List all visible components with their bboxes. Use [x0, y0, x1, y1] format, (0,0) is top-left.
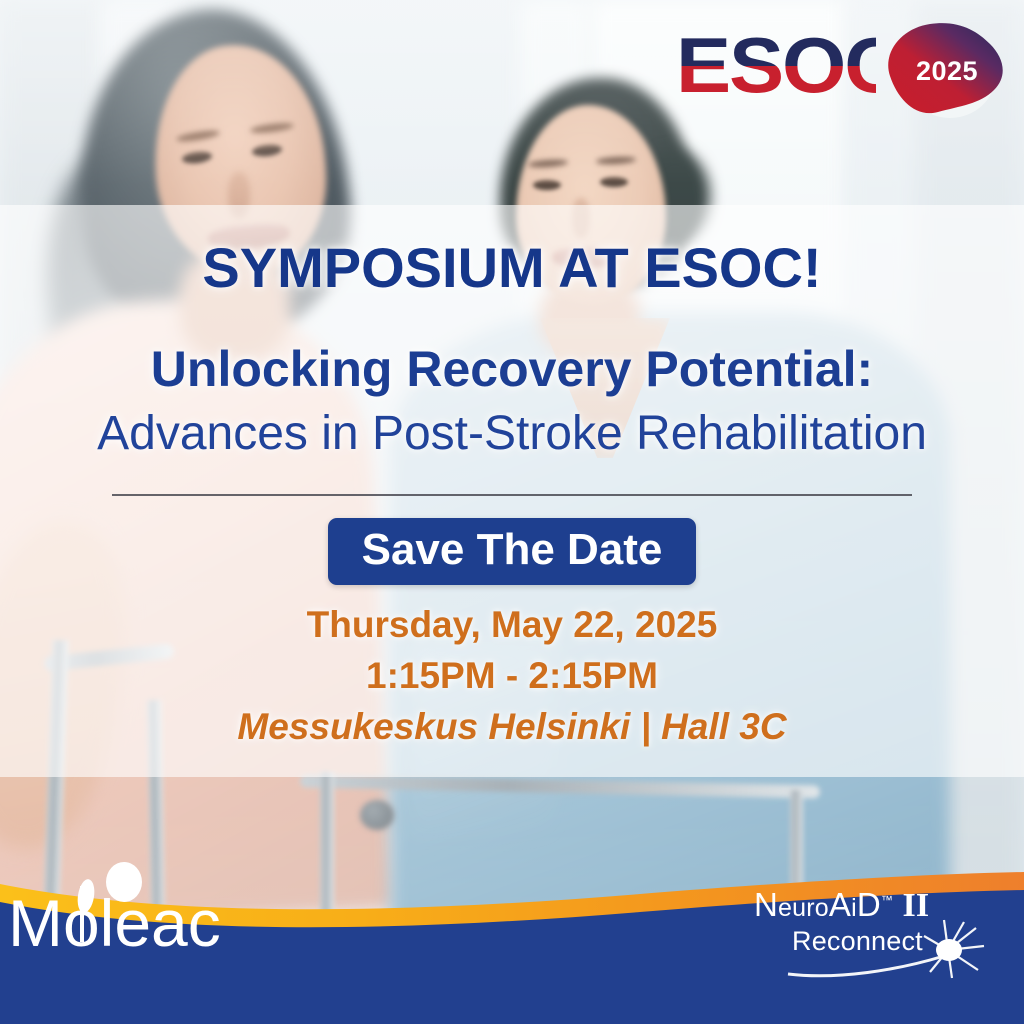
- headline: SYMPOSIUM AT ESOC!: [0, 235, 1024, 300]
- esoc-wordmark-icon: ESOC ESOC: [676, 24, 876, 108]
- moleac-wordmark: Moleac: [8, 886, 220, 956]
- event-venue: Messukeskus Helsinki | Hall 3C: [0, 706, 1024, 748]
- poster: ESOC ESOC 2025 SYMPOSIUM AT ESOC! Unlock…: [0, 0, 1024, 1024]
- moleac-logo: Moleac: [0, 860, 220, 956]
- esoc-logo: ESOC ESOC 2025: [676, 18, 1012, 118]
- footer: Moleac NeuroAiD™ II Reconnect: [0, 860, 1024, 1024]
- neuroaid-logo: NeuroAiD™ II Reconnect: [748, 884, 1008, 984]
- event-time: 1:15PM - 2:15PM: [0, 655, 1024, 697]
- divider: [112, 494, 912, 496]
- save-the-date-wrapper: Save The Date: [0, 518, 1024, 585]
- neuron-starburst-icon: [748, 884, 1008, 984]
- subtitle-line-1: Unlocking Recovery Potential:: [0, 340, 1024, 398]
- event-date: Thursday, May 22, 2025: [0, 604, 1024, 646]
- subtitle-line-2: Advances in Post-Stroke Rehabilitation: [0, 406, 1024, 461]
- esoc-year-label: 2025: [916, 56, 978, 87]
- save-the-date-badge: Save The Date: [328, 518, 697, 585]
